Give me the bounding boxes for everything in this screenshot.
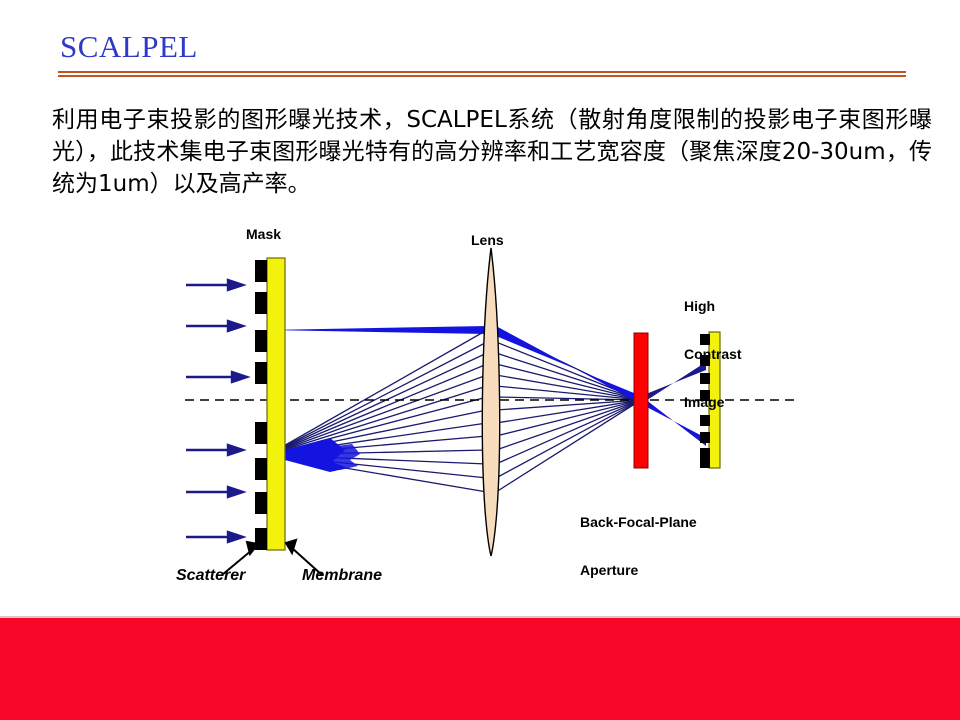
slide-canvas: SCALPEL 利用电子束投影的图形曝光技术，SCALPEL系统（散射角度限制的…	[0, 0, 960, 720]
label-back-focal-plane-line2: Aperture	[580, 562, 697, 578]
label-scatterer: Scatterer	[176, 568, 245, 584]
label-lens: Lens	[471, 232, 504, 248]
page-title: SCALPEL	[60, 28, 910, 66]
body-paragraph: 利用电子束投影的图形曝光技术，SCALPEL系统（散射角度限制的投影电子束图形曝…	[52, 104, 932, 200]
label-membrane: Membrane	[302, 568, 382, 584]
projection-lens	[482, 248, 499, 556]
incoming-arrow-4	[186, 445, 243, 455]
mask-membrane-bar	[267, 258, 285, 550]
incoming-arrow-1	[186, 280, 243, 290]
mask-assembly	[255, 258, 285, 550]
divider-line-bottom	[58, 75, 906, 77]
label-high-contrast-image-line1: High	[684, 298, 742, 314]
label-high-contrast-image: High Contrast Image	[684, 266, 742, 442]
label-back-focal-plane-line1: Back-Focal-Plane	[580, 514, 697, 530]
diagram-svg	[0, 210, 960, 610]
bottom-banner	[0, 618, 960, 720]
mask-scatterer-blocks	[255, 260, 267, 550]
scattered-ray-fan-post-lens	[496, 330, 641, 492]
incoming-arrow-2	[186, 321, 243, 331]
label-high-contrast-image-line3: Image	[684, 394, 742, 410]
incoming-beam-arrows	[186, 280, 247, 542]
scattered-ray-fan	[268, 330, 487, 492]
label-back-focal-plane-aperture: Back-Focal-Plane Aperture	[580, 482, 697, 610]
incoming-arrow-5	[186, 487, 243, 497]
label-mask: Mask	[246, 226, 281, 242]
label-high-contrast-image-line2: Contrast	[684, 346, 742, 362]
scalpel-optics-diagram: Mask Lens High Contrast Image Back-Focal…	[0, 210, 960, 610]
back-focal-plane-aperture-bar	[634, 333, 648, 468]
title-divider	[58, 71, 906, 78]
incoming-arrow-3	[186, 372, 247, 382]
incoming-arrow-6	[186, 532, 243, 542]
